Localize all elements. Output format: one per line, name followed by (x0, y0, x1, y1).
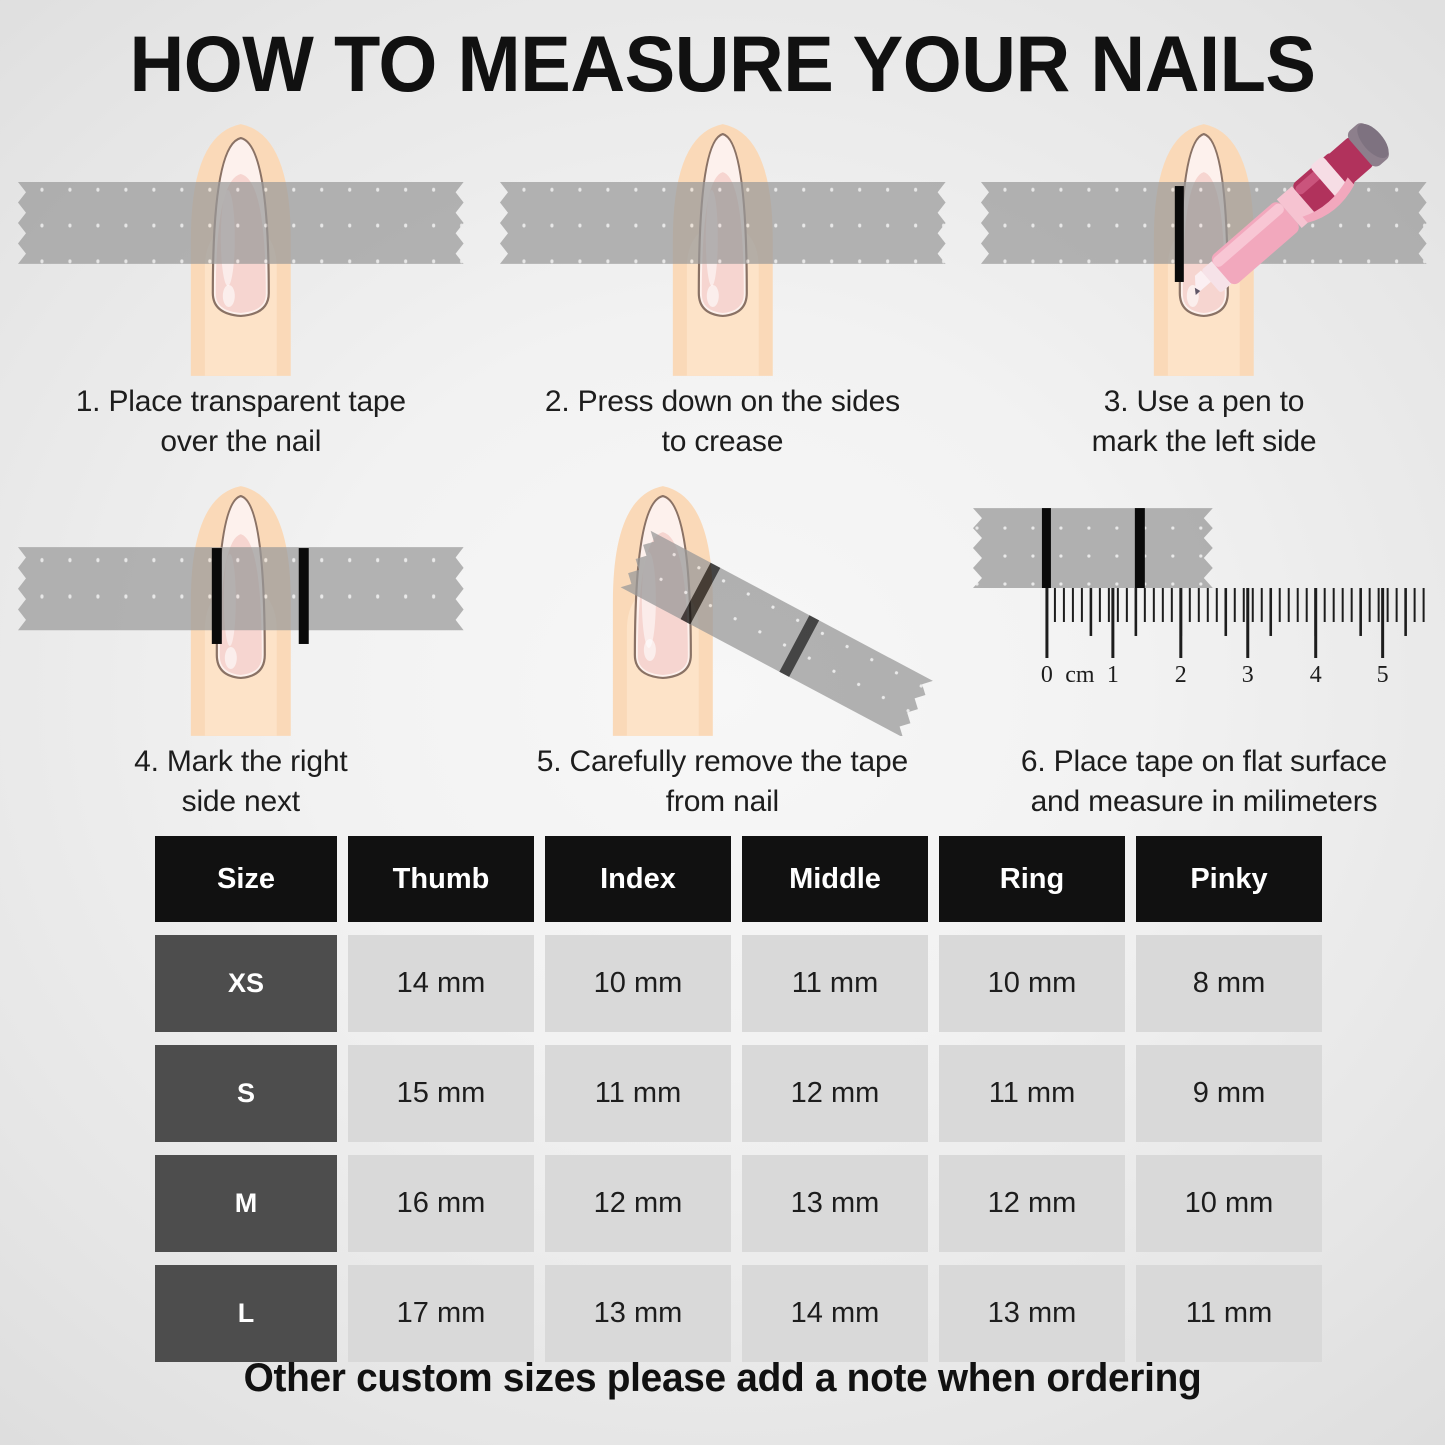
step-3-caption: 3. Use a pen to mark the left side (1092, 382, 1317, 462)
step-2-caption: 2. Press down on the sides to crease (545, 382, 900, 462)
step-6: 0 cm 1 2 3 4 5 6. Place tape on flat sur… (963, 486, 1445, 822)
infographic-page: HOW TO MEASURE YOUR NAILS (0, 0, 1445, 1445)
step-5-illustration (482, 486, 964, 736)
cell-xs-pinky: 8 mm (1136, 935, 1322, 1032)
header-cell-thumb: Thumb (348, 836, 534, 922)
steps-row-1: 1. Place transparent tape over the nail (0, 118, 1445, 462)
cell-s-index: 11 mm (545, 1045, 731, 1142)
size-label-m: M (155, 1155, 337, 1252)
cell-m-index: 12 mm (545, 1155, 731, 1252)
finger-tape-peeled-icon (482, 486, 964, 736)
right-mark (1135, 508, 1145, 588)
table-row: S 15 mm 11 mm 12 mm 11 mm 9 mm (155, 1045, 1323, 1142)
tape-strip (18, 182, 464, 264)
cell-xs-thumb: 14 mm (348, 935, 534, 1032)
step-2: 2. Press down on the sides to crease (482, 118, 964, 462)
step-3: 3. Use a pen to mark the left side (963, 118, 1445, 462)
header-cell-ring: Ring (939, 836, 1125, 922)
cell-m-middle: 13 mm (742, 1155, 928, 1252)
cell-m-thumb: 16 mm (348, 1155, 534, 1252)
page-title: HOW TO MEASURE YOUR NAILS (29, 22, 1416, 106)
step-1-illustration (0, 118, 482, 376)
ruler-labels: 0 cm 1 2 3 4 5 (1041, 662, 1389, 688)
step-4-illustration (0, 486, 482, 736)
header-cell-size: Size (155, 836, 337, 922)
step-1-caption: 1. Place transparent tape over the nail (76, 382, 406, 462)
header-cell-middle: Middle (742, 836, 928, 922)
table-row: M 16 mm 12 mm 13 mm 12 mm 10 mm (155, 1155, 1323, 1252)
cell-l-thumb: 17 mm (348, 1265, 534, 1362)
cell-xs-ring: 10 mm (939, 935, 1125, 1032)
step-6-caption: 6. Place tape on flat surface and measur… (1021, 742, 1387, 822)
ruler-label-4: 4 (1310, 662, 1322, 688)
cell-l-pinky: 11 mm (1136, 1265, 1322, 1362)
cell-xs-index: 10 mm (545, 935, 731, 1032)
tape-strip (500, 182, 946, 264)
cell-s-ring: 11 mm (939, 1045, 1125, 1142)
finger-pen-mark-icon (963, 118, 1445, 376)
table-row: L 17 mm 13 mm 14 mm 13 mm 11 mm (155, 1265, 1323, 1362)
step-6-illustration: 0 cm 1 2 3 4 5 (963, 486, 1445, 736)
header-cell-pinky: Pinky (1136, 836, 1322, 922)
ruler-label-3: 3 (1242, 662, 1254, 688)
cell-l-middle: 14 mm (742, 1265, 928, 1362)
step-4: 4. Mark the right side next (0, 486, 482, 822)
steps-grid: 1. Place transparent tape over the nail (0, 118, 1445, 822)
cell-s-middle: 12 mm (742, 1045, 928, 1142)
size-label-l: L (155, 1265, 337, 1362)
right-mark (299, 548, 309, 644)
table-header-row: Size Thumb Index Middle Ring Pinky (155, 836, 1323, 922)
size-label-s: S (155, 1045, 337, 1142)
finger-two-marks-icon (0, 486, 482, 736)
size-table: Size Thumb Index Middle Ring Pinky XS 14… (155, 836, 1323, 1375)
cell-s-pinky: 9 mm (1136, 1045, 1322, 1142)
ruler-unit-label: cm (1065, 662, 1095, 688)
cell-l-index: 13 mm (545, 1265, 731, 1362)
ruler-label-0: 0 (1041, 662, 1053, 688)
ruler-label-1: 1 (1107, 662, 1119, 688)
left-mark (1042, 508, 1051, 588)
step-1: 1. Place transparent tape over the nail (0, 118, 482, 462)
header-cell-index: Index (545, 836, 731, 922)
cell-l-ring: 13 mm (939, 1265, 1125, 1362)
tape-strip (18, 547, 464, 630)
step-5-caption: 5. Carefully remove the tape from nail (537, 742, 908, 822)
steps-row-2: 4. Mark the right side next (0, 486, 1445, 822)
left-mark (1175, 186, 1184, 282)
tape-strip (981, 182, 1427, 264)
tape-strip (973, 508, 1213, 588)
cell-xs-middle: 11 mm (742, 935, 928, 1032)
step-5: 5. Carefully remove the tape from nail (482, 486, 964, 822)
step-4-caption: 4. Mark the right side next (134, 742, 347, 822)
ruler-ticks (1047, 588, 1424, 658)
cell-m-pinky: 10 mm (1136, 1155, 1322, 1252)
ruler-label-2: 2 (1175, 662, 1187, 688)
finger-with-tape-icon (0, 118, 482, 376)
finger-creased-tape-icon (482, 118, 964, 376)
table-row: XS 14 mm 10 mm 11 mm 10 mm 8 mm (155, 935, 1323, 1032)
tape-on-ruler-icon: 0 cm 1 2 3 4 5 (963, 486, 1445, 736)
left-mark (212, 548, 222, 644)
step-3-illustration (963, 118, 1445, 376)
size-label-xs: XS (155, 935, 337, 1032)
ruler-label-5: 5 (1377, 662, 1389, 688)
step-2-illustration (482, 118, 964, 376)
cell-m-ring: 12 mm (939, 1155, 1125, 1252)
footer-note: Other custom sizes please add a note whe… (22, 1356, 1424, 1401)
cell-s-thumb: 15 mm (348, 1045, 534, 1142)
